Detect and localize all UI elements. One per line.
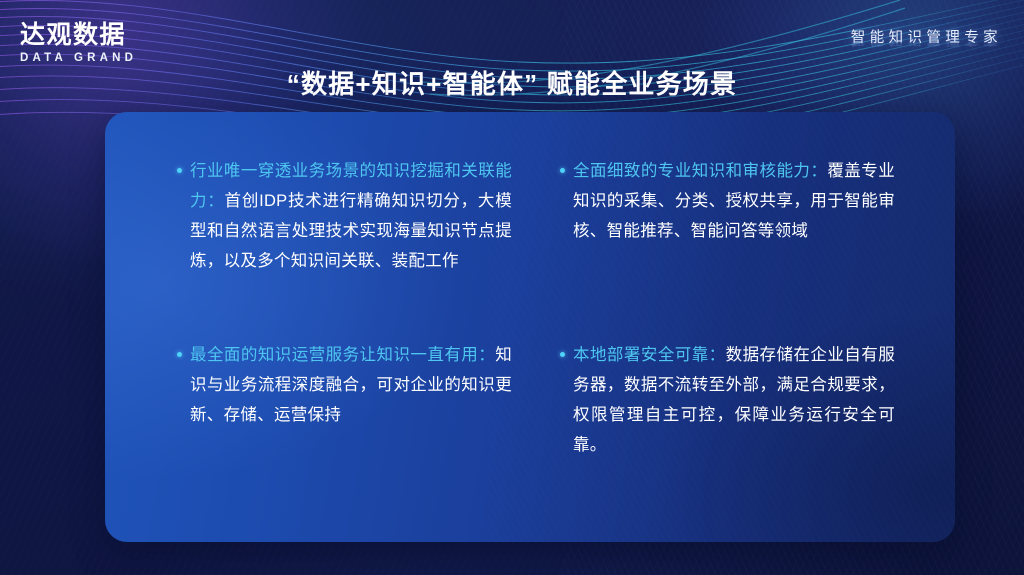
bullet-text: 行业唯一穿透业务场景的知识挖掘和关联能力：首创IDP技术进行精确知识切分，大模型… xyxy=(190,156,512,276)
bullet-lead: 最全面的知识运营服务让知识一直有用： xyxy=(190,346,495,364)
bullet-grid: 行业唯一穿透业务场景的知识挖掘和关联能力：首创IDP技术进行精确知识切分，大模型… xyxy=(105,112,955,542)
bullet-dot-icon xyxy=(177,352,182,357)
brand-logo: 达观数据 DATA GRAND xyxy=(20,22,160,64)
bullet-lead: 全面细致的专业知识和审核能力： xyxy=(573,162,827,180)
bullet-item: 最全面的知识运营服务让知识一直有用：知识与业务流程深度融合，可对企业的知识更新、… xyxy=(177,340,512,508)
page-title: “数据+知识+智能体” 赋能全业务场景 xyxy=(0,64,1024,101)
header-tagline-reflection: 智能知识管理专家 xyxy=(851,37,1002,49)
bullet-dot-icon xyxy=(177,168,182,173)
bullet-item: 全面细致的专业知识和审核能力：覆盖专业知识的采集、分类、授权共享，用于智能审核、… xyxy=(560,156,895,324)
bullet-text: 最全面的知识运营服务让知识一直有用：知识与业务流程深度融合，可对企业的知识更新、… xyxy=(190,340,512,430)
bullet-dot-icon xyxy=(560,352,565,357)
bullet-item: 行业唯一穿透业务场景的知识挖掘和关联能力：首创IDP技术进行精确知识切分，大模型… xyxy=(177,156,512,324)
bullet-text: 本地部署安全可靠：数据存储在企业自有服务器，数据不流转至外部，满足合规要求，权限… xyxy=(573,340,895,460)
content-card: 行业唯一穿透业务场景的知识挖掘和关联能力：首创IDP技术进行精确知识切分，大模型… xyxy=(105,112,955,542)
logo-english-name: DATA GRAND xyxy=(20,52,160,64)
logo-chinese-name: 达观数据 xyxy=(20,22,160,48)
bullet-text: 全面细致的专业知识和审核能力：覆盖专业知识的采集、分类、授权共享，用于智能审核、… xyxy=(573,156,895,246)
bullet-lead: 本地部署安全可靠： xyxy=(573,346,726,364)
bullet-dot-icon xyxy=(560,168,565,173)
slide-canvas: 达观数据 DATA GRAND 智能知识管理专家 智能知识管理专家 “数据+知识… xyxy=(0,0,1024,575)
bullet-item: 本地部署安全可靠：数据存储在企业自有服务器，数据不流转至外部，满足合规要求，权限… xyxy=(560,340,895,508)
bullet-rest: 首创IDP技术进行精确知识切分，大模型和自然语言处理技术实现海量知识节点提炼，以… xyxy=(190,192,512,270)
